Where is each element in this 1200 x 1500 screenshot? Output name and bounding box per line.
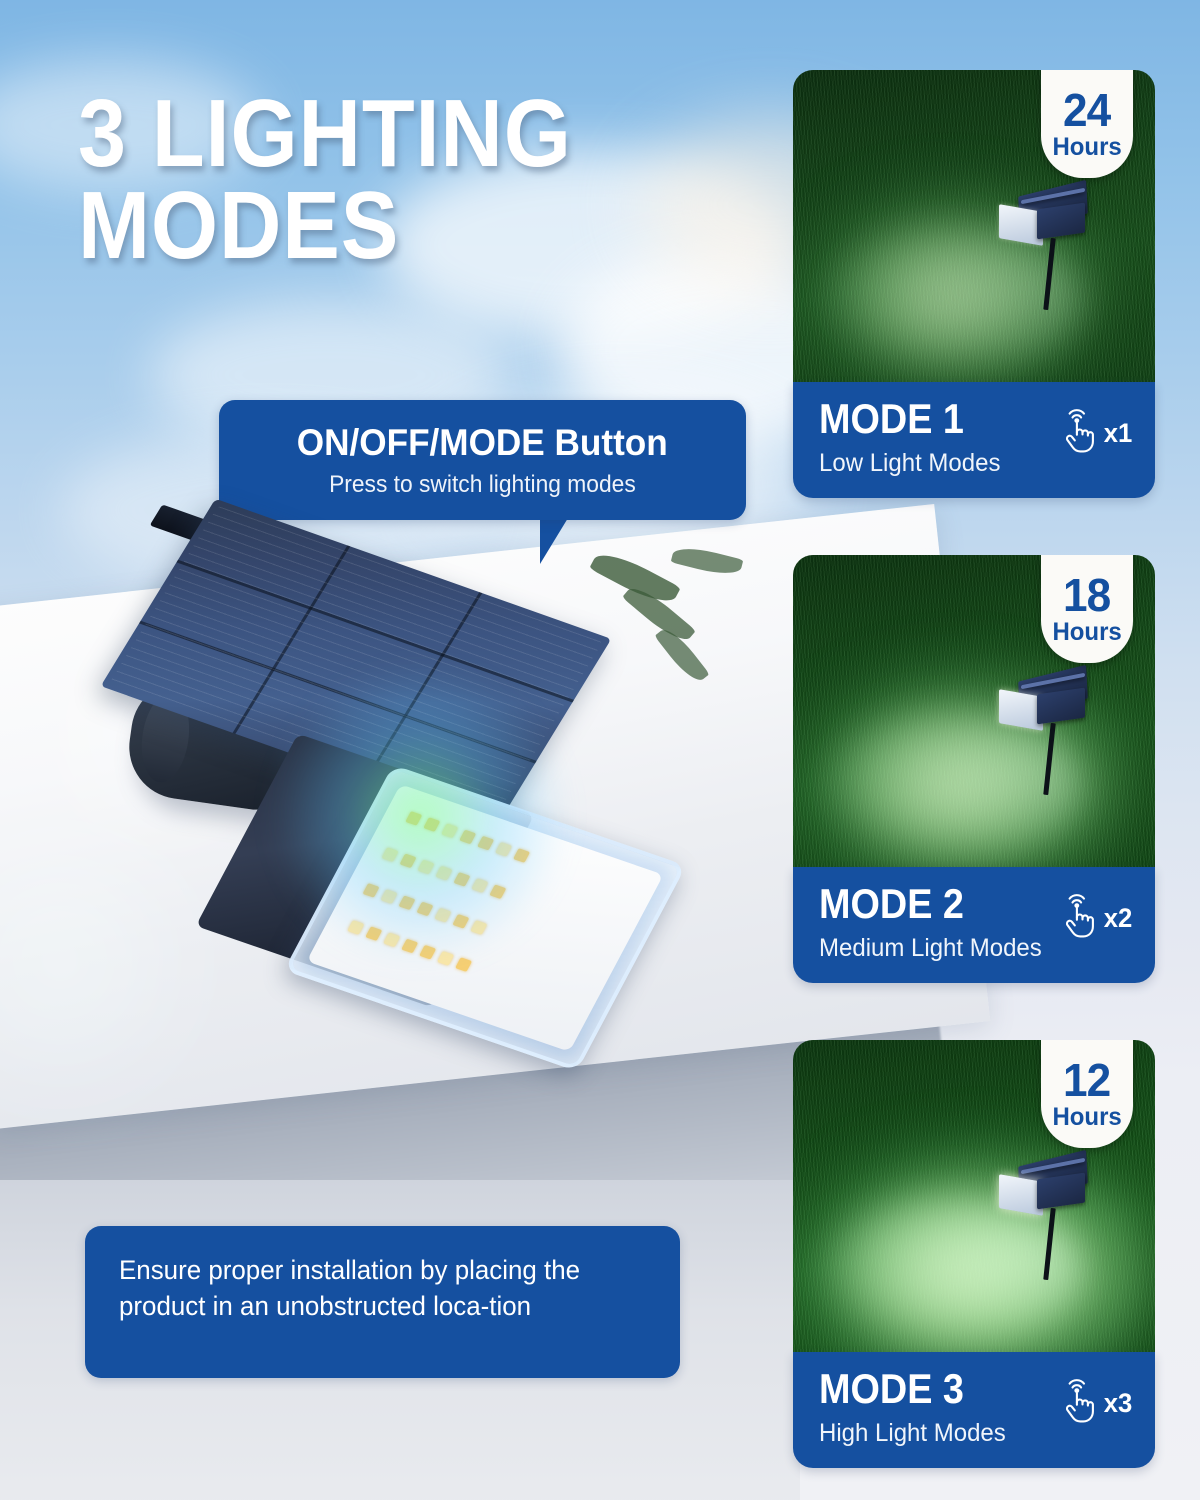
tap-hand-icon	[1057, 1378, 1101, 1424]
duration-number: 12	[1063, 1058, 1110, 1102]
press-count: x3	[1104, 1388, 1133, 1424]
mode-photo: 24 Hours	[793, 70, 1155, 382]
mode-label-bar: MODE 3 High Light Modes x3	[793, 1352, 1155, 1468]
press-count: x2	[1104, 903, 1133, 939]
led-plate	[307, 784, 664, 1052]
infographic-canvas: 3 LIGHTING MODES ON/OFF/MODE Button Pres…	[0, 0, 1200, 1500]
duration-badge: 18 Hours	[1041, 555, 1133, 663]
callout-title: ON/OFF/MODE Button	[297, 422, 668, 464]
duration-unit: Hours	[1052, 135, 1121, 160]
mode-label-bar: MODE 2 Medium Light Modes x2	[793, 867, 1155, 983]
title-line-1: 3 LIGHTING	[78, 88, 672, 180]
mode-card[interactable]: 12 Hours MODE 3 High Light Modes x3	[793, 1040, 1155, 1468]
mode-card[interactable]: 24 Hours MODE 1 Low Light Modes x1	[793, 70, 1155, 498]
press-indicator: x3	[1057, 1378, 1133, 1424]
product-image	[120, 545, 700, 1065]
solar-lamp-photo	[993, 1152, 1113, 1322]
tap-hand-icon	[1057, 893, 1101, 939]
solar-lamp-photo	[993, 667, 1113, 837]
press-indicator: x2	[1057, 893, 1133, 939]
installation-note: Ensure proper installation by placing th…	[85, 1226, 680, 1378]
press-count: x1	[1104, 418, 1133, 454]
page-title: 3 LIGHTING MODES	[78, 88, 672, 272]
callout-subtitle: Press to switch lighting modes	[329, 471, 636, 499]
title-line-2: MODES	[78, 180, 672, 272]
mode-photo: 18 Hours	[793, 555, 1155, 867]
duration-number: 24	[1063, 88, 1110, 132]
press-indicator: x1	[1057, 408, 1133, 454]
tap-hand-icon	[1057, 408, 1101, 454]
installation-note-text: Ensure proper installation by placing th…	[119, 1252, 625, 1324]
duration-unit: Hours	[1052, 620, 1121, 645]
duration-badge: 24 Hours	[1041, 70, 1133, 178]
callout-box: ON/OFF/MODE Button Press to switch light…	[219, 400, 746, 520]
duration-number: 18	[1063, 573, 1110, 617]
duration-unit: Hours	[1052, 1105, 1121, 1130]
solar-lamp-photo	[993, 182, 1113, 352]
mode-photo: 12 Hours	[793, 1040, 1155, 1352]
mode-card[interactable]: 18 Hours MODE 2 Medium Light Modes x2	[793, 555, 1155, 983]
mode-label-bar: MODE 1 Low Light Modes x1	[793, 382, 1155, 498]
duration-badge: 12 Hours	[1041, 1040, 1133, 1148]
